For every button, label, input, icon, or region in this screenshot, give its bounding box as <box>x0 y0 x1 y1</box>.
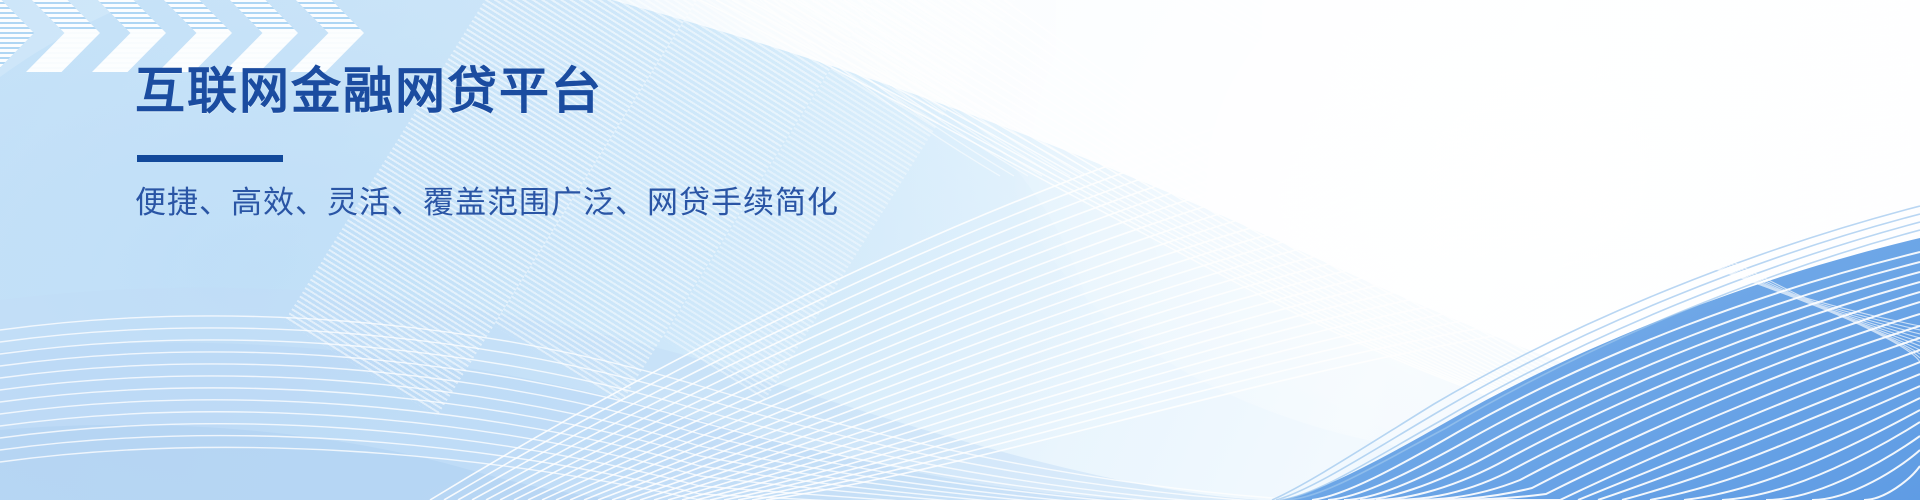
title-divider <box>137 155 283 162</box>
banner-subtitle: 便捷、高效、灵活、覆盖范围广泛、网贷手续简化 <box>135 184 839 221</box>
banner-text-block: 互联网金融网贷平台 便捷、高效、灵活、覆盖范围广泛、网贷手续简化 <box>135 62 839 221</box>
promo-banner: 互联网金融网贷平台 便捷、高效、灵活、覆盖范围广泛、网贷手续简化 <box>0 0 1920 500</box>
page-title: 互联网金融网贷平台 <box>135 62 839 120</box>
